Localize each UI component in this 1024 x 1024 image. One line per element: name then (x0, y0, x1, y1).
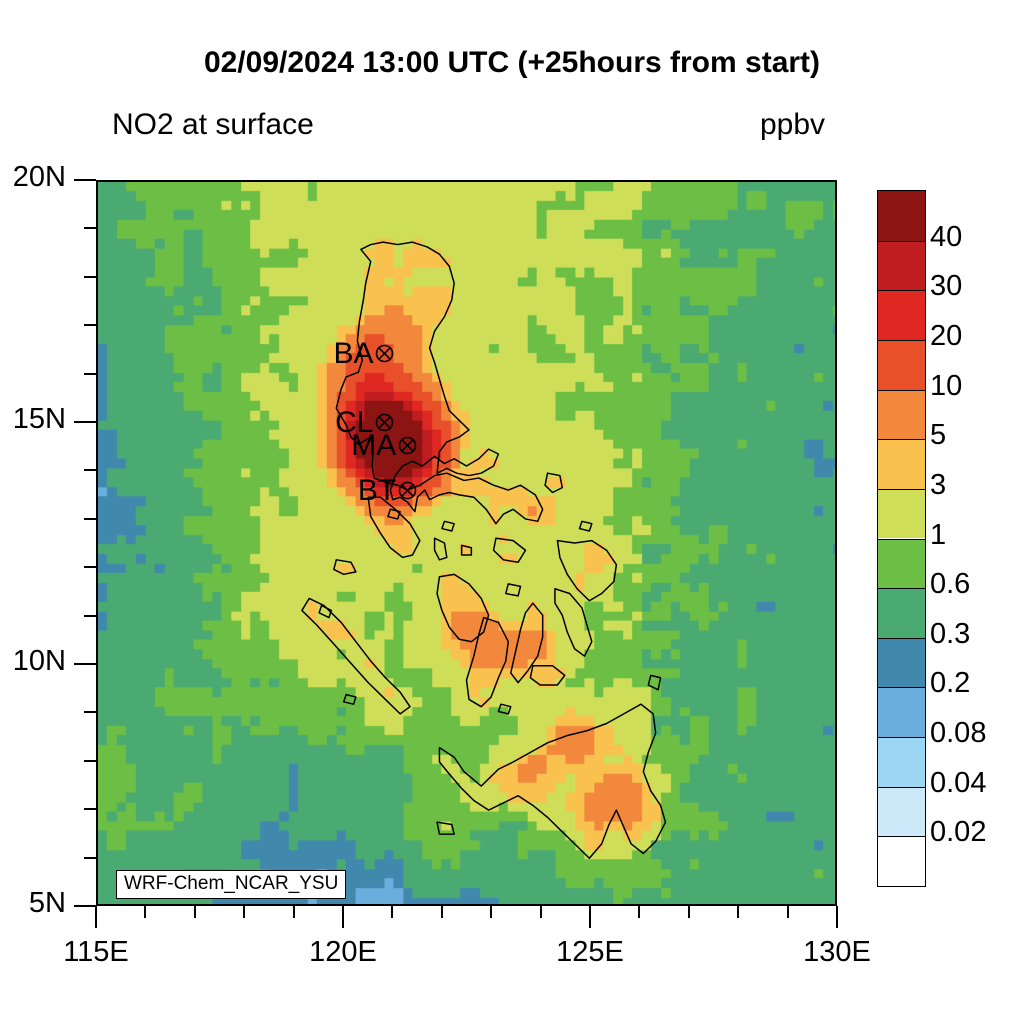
x-tick (589, 906, 591, 928)
x-tick (490, 906, 492, 918)
y-tick (84, 566, 96, 568)
coastline-path (388, 509, 400, 519)
field-label: NO2 at surface (112, 108, 314, 142)
colorbar-band (878, 787, 925, 837)
coastline-overlay (98, 182, 835, 904)
y-tick (84, 760, 96, 762)
coastline-path (545, 473, 562, 492)
y-tick (84, 711, 96, 713)
station-marker-icon (375, 344, 394, 363)
coastline-path (579, 521, 591, 531)
coastline-path (555, 589, 592, 656)
x-tick (638, 906, 640, 918)
coastline-path (435, 538, 447, 560)
x-tick (836, 906, 838, 928)
coastline-path (439, 704, 665, 858)
colorbar-band (878, 191, 925, 241)
colorbar-tick-label: 0.04 (930, 767, 1024, 800)
colorbar-tick-label: 10 (930, 370, 1024, 403)
colorbar-band (878, 687, 925, 737)
x-tick (342, 906, 344, 928)
colorbar-tick-label: 0.3 (930, 618, 1024, 651)
colorbar-band (878, 290, 925, 340)
station-label: BA (333, 337, 373, 371)
colorbar-tick-label: 5 (930, 419, 1024, 452)
colorbar-band (878, 489, 925, 539)
colorbar-tick-label: 1 (930, 519, 1024, 552)
x-tick (737, 906, 739, 918)
coastline-path (498, 704, 510, 714)
x-tick (391, 906, 393, 918)
y-tick (84, 518, 96, 520)
y-tick-label: 15N (0, 403, 66, 436)
coastline-path (437, 574, 489, 641)
colorbar-band (878, 737, 925, 787)
station-label: MA (351, 429, 396, 463)
units-label: ppbv (760, 108, 825, 142)
y-tick (84, 857, 96, 859)
coastline-path (462, 545, 472, 555)
colorbar-band (878, 241, 925, 291)
x-tick-label: 130E (767, 936, 907, 969)
colorbar-band (878, 390, 925, 440)
colorbar-tick-label: 40 (930, 221, 1024, 254)
y-tick (84, 227, 96, 229)
station-marker-icon (398, 436, 417, 455)
x-tick (293, 906, 295, 918)
colorbar-tick-label: 0.2 (930, 667, 1024, 700)
coastline-path (530, 666, 564, 685)
y-tick (84, 469, 96, 471)
y-tick (74, 905, 96, 907)
x-tick (441, 906, 443, 918)
colorbar-tick-label: 0.02 (930, 816, 1024, 849)
coastline-path (648, 675, 660, 689)
y-tick (84, 324, 96, 326)
x-tick-label: 115E (26, 936, 166, 969)
map-plot-area[interactable]: WRF-Chem_NCAR_YSU (96, 180, 837, 906)
y-tick-label: 10N (0, 645, 66, 678)
x-tick (540, 906, 542, 918)
colorbar-band (878, 638, 925, 688)
x-tick (144, 906, 146, 918)
colorbar-band (878, 539, 925, 589)
colorbar-tick-label: 0.6 (930, 568, 1024, 601)
colorbar-tick-label: 0.08 (930, 717, 1024, 750)
x-tick-label: 125E (520, 936, 660, 969)
colorbar[interactable] (877, 190, 926, 887)
station-label: BT (358, 474, 396, 508)
y-tick (84, 276, 96, 278)
colorbar-band (878, 836, 925, 886)
x-tick (95, 906, 97, 928)
x-tick (243, 906, 245, 918)
y-tick (84, 808, 96, 810)
colorbar-band (878, 340, 925, 390)
coastline-path (437, 822, 454, 834)
x-tick (688, 906, 690, 918)
coastline-path (506, 584, 521, 596)
page-title: 02/09/2024 13:00 UTC (+25hours from star… (0, 46, 1024, 80)
colorbar-tick-label: 30 (930, 270, 1024, 303)
y-tick (84, 615, 96, 617)
y-tick (74, 663, 96, 665)
colorbar-band (878, 439, 925, 489)
coastline-path (467, 618, 509, 707)
coastline-path (334, 560, 356, 575)
y-tick-label: 5N (0, 887, 66, 920)
coastline-path (494, 538, 526, 562)
model-watermark: WRF-Chem_NCAR_YSU (116, 870, 346, 899)
y-tick (74, 179, 96, 181)
colorbar-band (878, 588, 925, 638)
x-tick (194, 906, 196, 918)
coastline-path (442, 521, 454, 531)
coastline-path (511, 603, 543, 682)
x-tick (787, 906, 789, 918)
y-tick (84, 373, 96, 375)
x-tick-label: 120E (273, 936, 413, 969)
coastline-path (344, 695, 356, 705)
station-marker-icon (398, 481, 417, 500)
y-tick (74, 421, 96, 423)
colorbar-tick-label: 3 (930, 469, 1024, 502)
y-tick-label: 20N (0, 161, 66, 194)
colorbar-tick-label: 20 (930, 320, 1024, 353)
